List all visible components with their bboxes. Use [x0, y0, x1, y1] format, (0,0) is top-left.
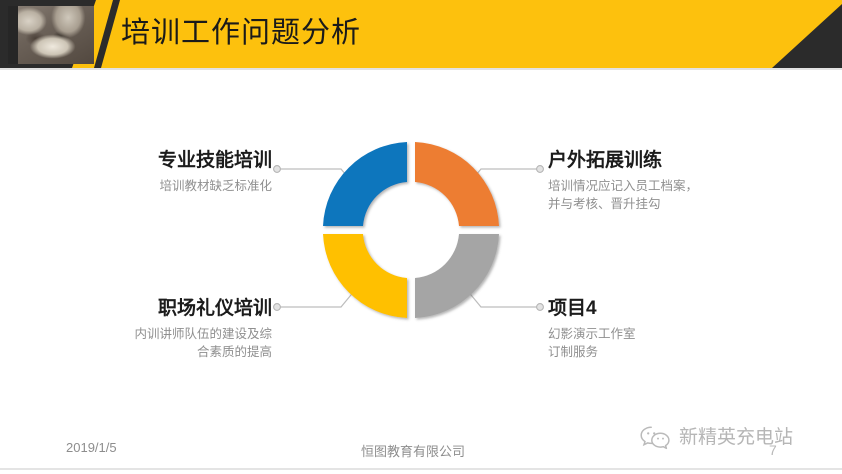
donut-segment-bottom-right[interactable] — [415, 234, 499, 318]
footer-company: 恒图教育有限公司 — [361, 441, 465, 460]
callout-title: 职场礼仪培训 — [57, 296, 272, 322]
header-photo-image — [8, 6, 94, 64]
callout-title: 项目4 — [548, 296, 763, 322]
callout-desc: 培训教材缺乏标准化 — [57, 177, 272, 195]
page-title: 培训工作问题分析 — [121, 13, 361, 53]
header-photo — [8, 6, 94, 64]
header-photo-edge — [8, 6, 18, 64]
slide: 培训工作问题分析 — [0, 0, 842, 474]
donut-chart — [311, 130, 511, 330]
callout-bottom-right[interactable]: 项目4 幻影演示工作室订制服务 — [548, 296, 763, 361]
callout-bottom-left[interactable]: 职场礼仪培训 内训讲师队伍的建设及综合素质的提高 — [57, 296, 272, 361]
donut-segment-top-left[interactable] — [323, 142, 407, 226]
callout-top-right[interactable]: 户外拓展训练 培训情况应记入员工档案，并与考核、晋升挂勾 — [548, 148, 763, 213]
callout-title: 专业技能培训 — [57, 148, 272, 174]
callout-desc: 内训讲师队伍的建设及综合素质的提高 — [57, 325, 272, 361]
slide-header: 培训工作问题分析 — [0, 0, 842, 68]
callout-title: 户外拓展训练 — [548, 148, 763, 174]
callout-desc: 培训情况应记入员工档案，并与考核、晋升挂勾 — [548, 177, 763, 213]
donut-segment-top-right[interactable] — [415, 142, 499, 226]
diagram-area: 专业技能培训 培训教材缺乏标准化 职场礼仪培训 内训讲师队伍的建设及综合素质的提… — [0, 68, 842, 416]
callout-top-left[interactable]: 专业技能培训 培训教材缺乏标准化 — [57, 148, 272, 195]
footer-rule — [0, 468, 842, 470]
wechat-icon — [639, 425, 673, 451]
donut-segment-bottom-left[interactable] — [323, 234, 407, 318]
watermark-text: 新精英充电站 — [679, 425, 793, 451]
callout-desc: 幻影演示工作室订制服务 — [548, 325, 763, 361]
footer-date: 2019/1/5 — [66, 440, 117, 455]
watermark: 新精英充电站 — [639, 421, 829, 455]
